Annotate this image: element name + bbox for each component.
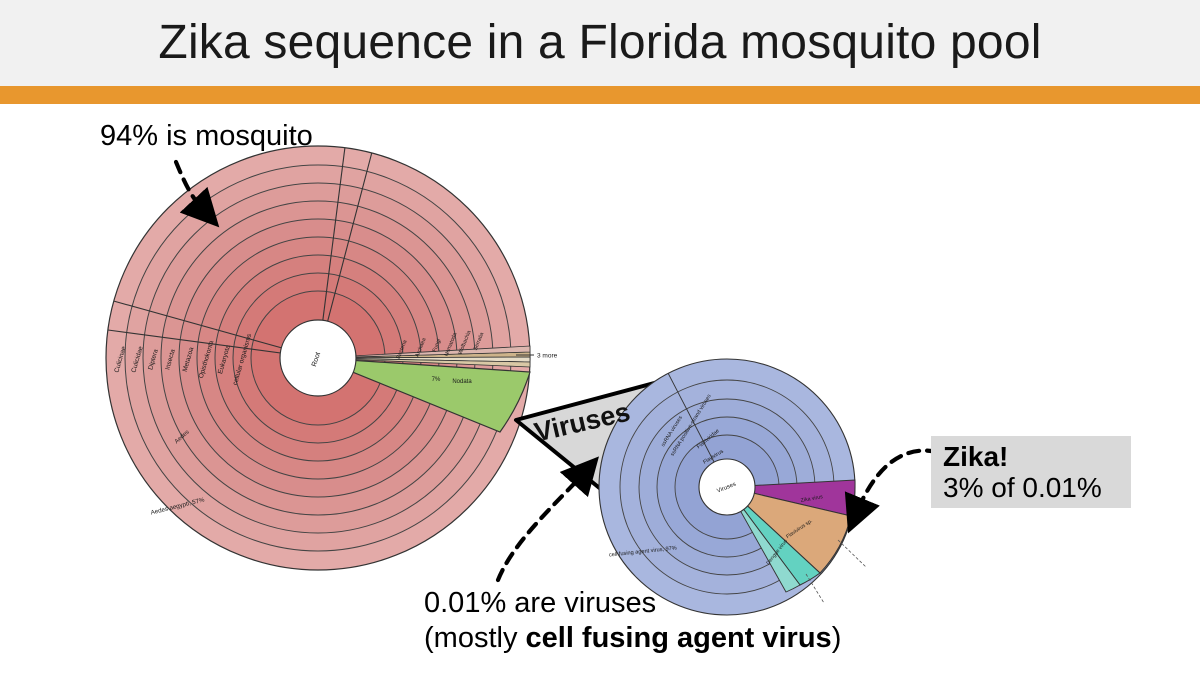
overflow-label: 3 more	[537, 353, 558, 360]
krona-graphics: Root cellular organisms Eukaryota Opisth…	[0, 0, 1200, 675]
mosquito-krona-chart: Root cellular organisms Eukaryota Opisth…	[106, 146, 558, 570]
arrow-viruses	[498, 472, 585, 580]
viruses-caption-line1: 0.01% are viruses	[424, 586, 841, 621]
viruses-caption-post: )	[832, 622, 842, 654]
slide: Zika sequence in a Florida mosquito pool	[0, 0, 1200, 675]
viruses-caption-bold: cell fusing agent virus	[526, 622, 832, 654]
zika-callout-box: Zika! 3% of 0.01%	[931, 436, 1131, 508]
annotation-viruses-caption: 0.01% are viruses (mostly cell fusing ag…	[424, 586, 841, 657]
virus-branch-label-1: 7%	[432, 377, 441, 383]
zika-callout-subtitle: 3% of 0.01%	[943, 472, 1121, 503]
arrow-zika	[856, 451, 938, 514]
virus-branch-label-2: Nodata	[452, 379, 472, 385]
viruses-caption-line2: (mostly cell fusing agent virus)	[424, 621, 841, 656]
virus-krona-chart: Viruses ssRNA viruses ssRNA positive-str…	[599, 359, 866, 615]
viruses-caption-pre: (mostly	[424, 622, 526, 654]
zika-callout-title: Zika!	[943, 442, 1121, 472]
annotation-mosquito: 94% is mosquito	[100, 120, 313, 153]
